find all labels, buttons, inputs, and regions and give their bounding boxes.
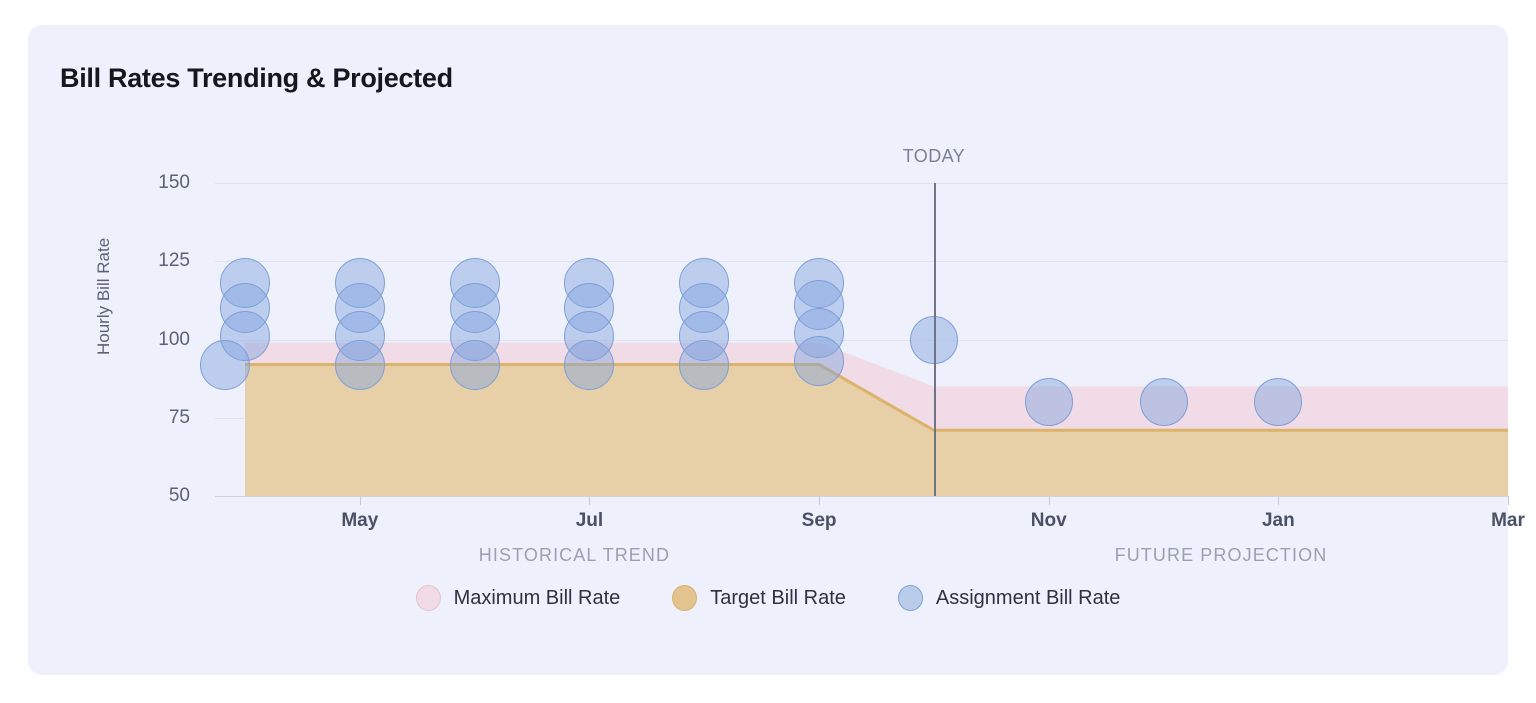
legend-label: Target Bill Rate <box>710 587 846 610</box>
assignment-bill-rate-bubble[interactable] <box>564 340 614 390</box>
x-tick-label: Mar <box>1491 510 1525 532</box>
y-tick-label: 125 <box>120 250 190 272</box>
y-tick-label: 50 <box>120 485 190 507</box>
legend-swatch-icon <box>898 585 923 611</box>
legend-item[interactable]: Maximum Bill Rate <box>416 585 621 611</box>
x-tick <box>360 496 361 505</box>
future-projection-label: FUTURE PROJECTION <box>1115 545 1328 566</box>
x-tick <box>589 496 590 505</box>
y-tick-label: 100 <box>120 329 190 351</box>
legend-swatch-icon <box>672 585 697 611</box>
historical-trend-label: HISTORICAL TREND <box>479 545 670 566</box>
assignment-bill-rate-bubble[interactable] <box>794 336 844 386</box>
legend-item[interactable]: Target Bill Rate <box>672 585 846 611</box>
assignment-bill-rate-bubble[interactable] <box>679 340 729 390</box>
x-tick-label: Nov <box>1031 510 1067 532</box>
x-tick <box>1049 496 1050 505</box>
bill-rates-chart: Hourly Bill Rate 5075100125150 MayJulSep… <box>28 25 1508 675</box>
assignment-bill-rate-bubble[interactable] <box>1140 378 1188 426</box>
x-tick <box>1278 496 1279 505</box>
x-tick-label: Sep <box>802 510 837 532</box>
assignment-bill-rate-bubble[interactable] <box>1025 378 1073 426</box>
today-marker-line <box>934 183 936 496</box>
x-tick-label: Jan <box>1262 510 1295 532</box>
x-tick <box>819 496 820 505</box>
x-tick <box>1508 496 1509 505</box>
today-marker-label: TODAY <box>903 146 965 167</box>
y-tick-label: 150 <box>120 172 190 194</box>
assignment-bill-rate-bubble[interactable] <box>450 340 500 390</box>
legend-label: Maximum Bill Rate <box>454 587 621 610</box>
x-tick-label: Jul <box>576 510 603 532</box>
legend-item[interactable]: Assignment Bill Rate <box>898 585 1121 611</box>
x-tick-label: May <box>341 510 378 532</box>
legend-swatch-icon <box>416 585 441 611</box>
assignment-bill-rate-bubble[interactable] <box>200 340 250 390</box>
assignment-bill-rate-bubble[interactable] <box>1254 378 1302 426</box>
legend-label: Assignment Bill Rate <box>936 587 1121 610</box>
plot-area <box>215 183 1508 496</box>
area-bands <box>215 183 1508 496</box>
y-tick-label: 75 <box>120 407 190 429</box>
bill-rates-card: Bill Rates Trending & Projected Hourly B… <box>28 25 1508 675</box>
x-axis-line <box>215 496 1508 497</box>
y-axis-title: Hourly Bill Rate <box>94 238 114 355</box>
assignment-bill-rate-bubble[interactable] <box>335 340 385 390</box>
chart-legend: Maximum Bill RateTarget Bill RateAssignm… <box>28 585 1508 611</box>
